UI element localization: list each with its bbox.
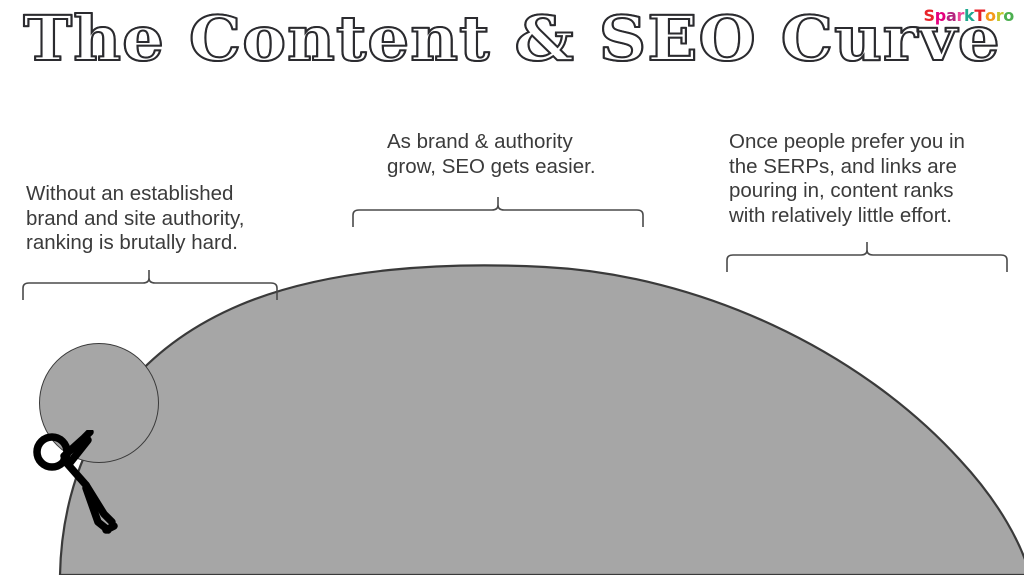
- logo-letter-4: k: [964, 8, 974, 24]
- annotation-right: Once people prefer you in the SERPs, and…: [729, 130, 1019, 228]
- bracket-right: [726, 250, 1008, 272]
- logo-letter-5: T: [974, 8, 985, 24]
- curve-shape: [60, 265, 1024, 575]
- logo-letter-3: r: [956, 8, 964, 24]
- stick-figure-svg: [14, 430, 124, 575]
- slide-canvas: The Content & SEO Curve SparkToro: [0, 0, 1024, 575]
- logo-letter-7: r: [996, 8, 1004, 24]
- sparktoro-logo[interactable]: SparkToro: [924, 8, 1014, 24]
- bracket-middle: [352, 205, 644, 227]
- logo-letter-8: o: [1003, 8, 1014, 24]
- page-title: The Content & SEO Curve: [0, 6, 1024, 71]
- logo-letter-0: S: [924, 8, 935, 24]
- logo-letter-1: p: [935, 8, 946, 24]
- logo-letter-6: o: [985, 8, 996, 24]
- logo-letter-2: a: [946, 8, 957, 24]
- figure-foot: [106, 526, 114, 530]
- bracket-left: [22, 278, 278, 300]
- annotation-middle: As brand & authority grow, SEO gets easi…: [387, 130, 637, 179]
- stick-figure-pushing-boulder: [14, 430, 124, 575]
- annotation-left: Without an established brand and site au…: [26, 182, 296, 256]
